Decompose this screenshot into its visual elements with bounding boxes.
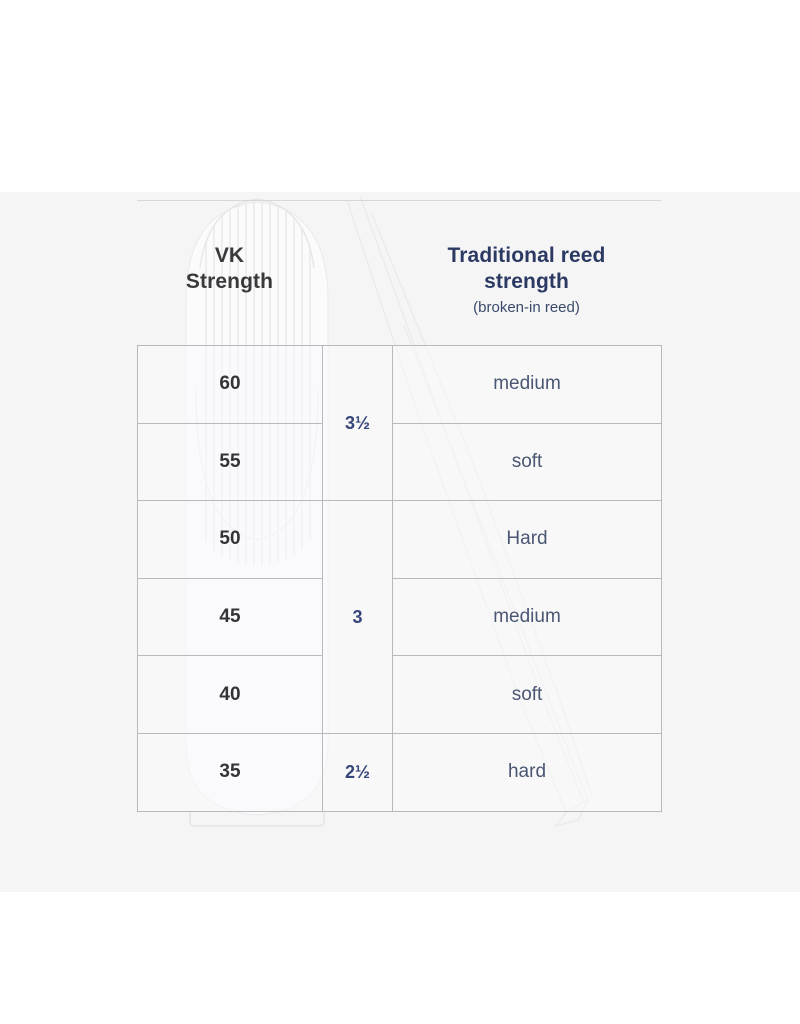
table-row: 50 3 Hard <box>138 501 662 579</box>
table-row: 40 soft <box>138 656 662 734</box>
vk-strength-cell: 50 <box>138 501 323 579</box>
reed-description-cell: Hard <box>393 501 662 579</box>
traditional-reed-header-subtitle: (broken-in reed) <box>392 298 661 318</box>
header-divider-rule <box>137 200 661 201</box>
table-row: 60 3½ medium <box>138 346 662 424</box>
traditional-reed-header: Traditional reed strength (broken-in ree… <box>392 223 661 318</box>
table-header-row: VK Strength Traditional reed strength (b… <box>137 223 661 345</box>
reed-description-cell: soft <box>393 656 662 734</box>
vk-strength-cell: 55 <box>138 423 323 501</box>
strength-table-body: 60 3½ medium 55 soft 50 3 Hard 45 medium <box>138 346 662 812</box>
vk-strength-cell: 35 <box>138 733 323 811</box>
page-root: VK Strength Traditional reed strength (b… <box>0 0 800 1024</box>
vk-strength-cell: 40 <box>138 656 323 734</box>
vk-strength-cell: 60 <box>138 346 323 424</box>
traditional-strength-cell: 2½ <box>323 733 393 811</box>
traditional-reed-header-title: Traditional reed strength <box>392 243 661 295</box>
reed-description-cell: medium <box>393 578 662 656</box>
vk-header-line2: Strength <box>186 270 273 293</box>
strength-chart: VK Strength Traditional reed strength (b… <box>137 200 661 812</box>
reed-description-cell: soft <box>393 423 662 501</box>
table-row: 35 2½ hard <box>138 733 662 811</box>
trad-header-line1: Traditional reed <box>448 244 606 267</box>
table-row: 55 soft <box>138 423 662 501</box>
trad-header-line2: strength <box>484 270 569 293</box>
traditional-strength-cell: 3 <box>323 501 393 734</box>
reed-description-cell: hard <box>393 733 662 811</box>
vk-header-line1: VK <box>215 244 244 267</box>
reed-description-cell: medium <box>393 346 662 424</box>
table-row: 45 medium <box>138 578 662 656</box>
strength-comparison-table: 60 3½ medium 55 soft 50 3 Hard 45 medium <box>137 345 662 812</box>
vk-strength-cell: 45 <box>138 578 323 656</box>
traditional-strength-cell: 3½ <box>323 346 393 501</box>
vk-strength-header: VK Strength <box>137 223 322 295</box>
vk-strength-header-title: VK Strength <box>137 243 322 295</box>
